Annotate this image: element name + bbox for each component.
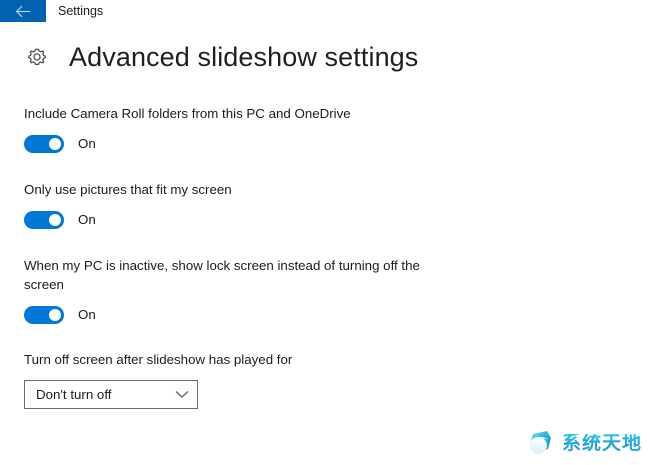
gear-icon bbox=[24, 45, 50, 71]
toggle-row: On bbox=[24, 306, 624, 324]
watermark-text: 系统天地 bbox=[562, 434, 642, 453]
globe-logo-icon bbox=[524, 427, 556, 459]
back-button[interactable] bbox=[0, 0, 46, 22]
toggle-lock-screen[interactable] bbox=[24, 306, 64, 324]
app-title: Settings bbox=[58, 0, 103, 22]
toggle-fit-screen[interactable] bbox=[24, 211, 64, 229]
toggle-state-label: On bbox=[78, 211, 96, 229]
toggle-knob bbox=[49, 309, 61, 321]
spacer bbox=[24, 153, 624, 180]
setting-item-lock-screen: When my PC is inactive, show lock screen… bbox=[24, 256, 624, 324]
toggle-state-label: On bbox=[78, 135, 96, 153]
watermark: 系统天地 bbox=[524, 427, 642, 459]
page-title: Advanced slideshow settings bbox=[69, 44, 418, 71]
toggle-camera-roll[interactable] bbox=[24, 135, 64, 153]
toggle-knob bbox=[49, 138, 61, 150]
setting-item-fit-screen: Only use pictures that fit my screen On bbox=[24, 180, 624, 229]
toggle-knob bbox=[49, 214, 61, 226]
spacer bbox=[24, 324, 624, 350]
setting-item-turn-off-screen: Turn off screen after slideshow has play… bbox=[24, 350, 624, 409]
setting-label: Only use pictures that fit my screen bbox=[24, 180, 434, 199]
toggle-state-label: On bbox=[78, 306, 96, 324]
page-header: Advanced slideshow settings bbox=[24, 44, 418, 71]
back-arrow-icon bbox=[15, 5, 32, 18]
setting-label: Include Camera Roll folders from this PC… bbox=[24, 104, 434, 123]
turn-off-screen-dropdown[interactable]: Don't turn off bbox=[24, 380, 198, 409]
dropdown-selected-value: Don't turn off bbox=[36, 387, 175, 402]
title-bar: Settings bbox=[0, 0, 650, 28]
spacer bbox=[24, 229, 624, 256]
settings-list: Include Camera Roll folders from this PC… bbox=[24, 104, 624, 409]
toggle-row: On bbox=[24, 211, 624, 229]
setting-label: When my PC is inactive, show lock screen… bbox=[24, 256, 434, 294]
setting-item-camera-roll: Include Camera Roll folders from this PC… bbox=[24, 104, 624, 153]
toggle-row: On bbox=[24, 135, 624, 153]
dropdown-label: Turn off screen after slideshow has play… bbox=[24, 350, 624, 369]
chevron-down-icon bbox=[175, 386, 189, 404]
